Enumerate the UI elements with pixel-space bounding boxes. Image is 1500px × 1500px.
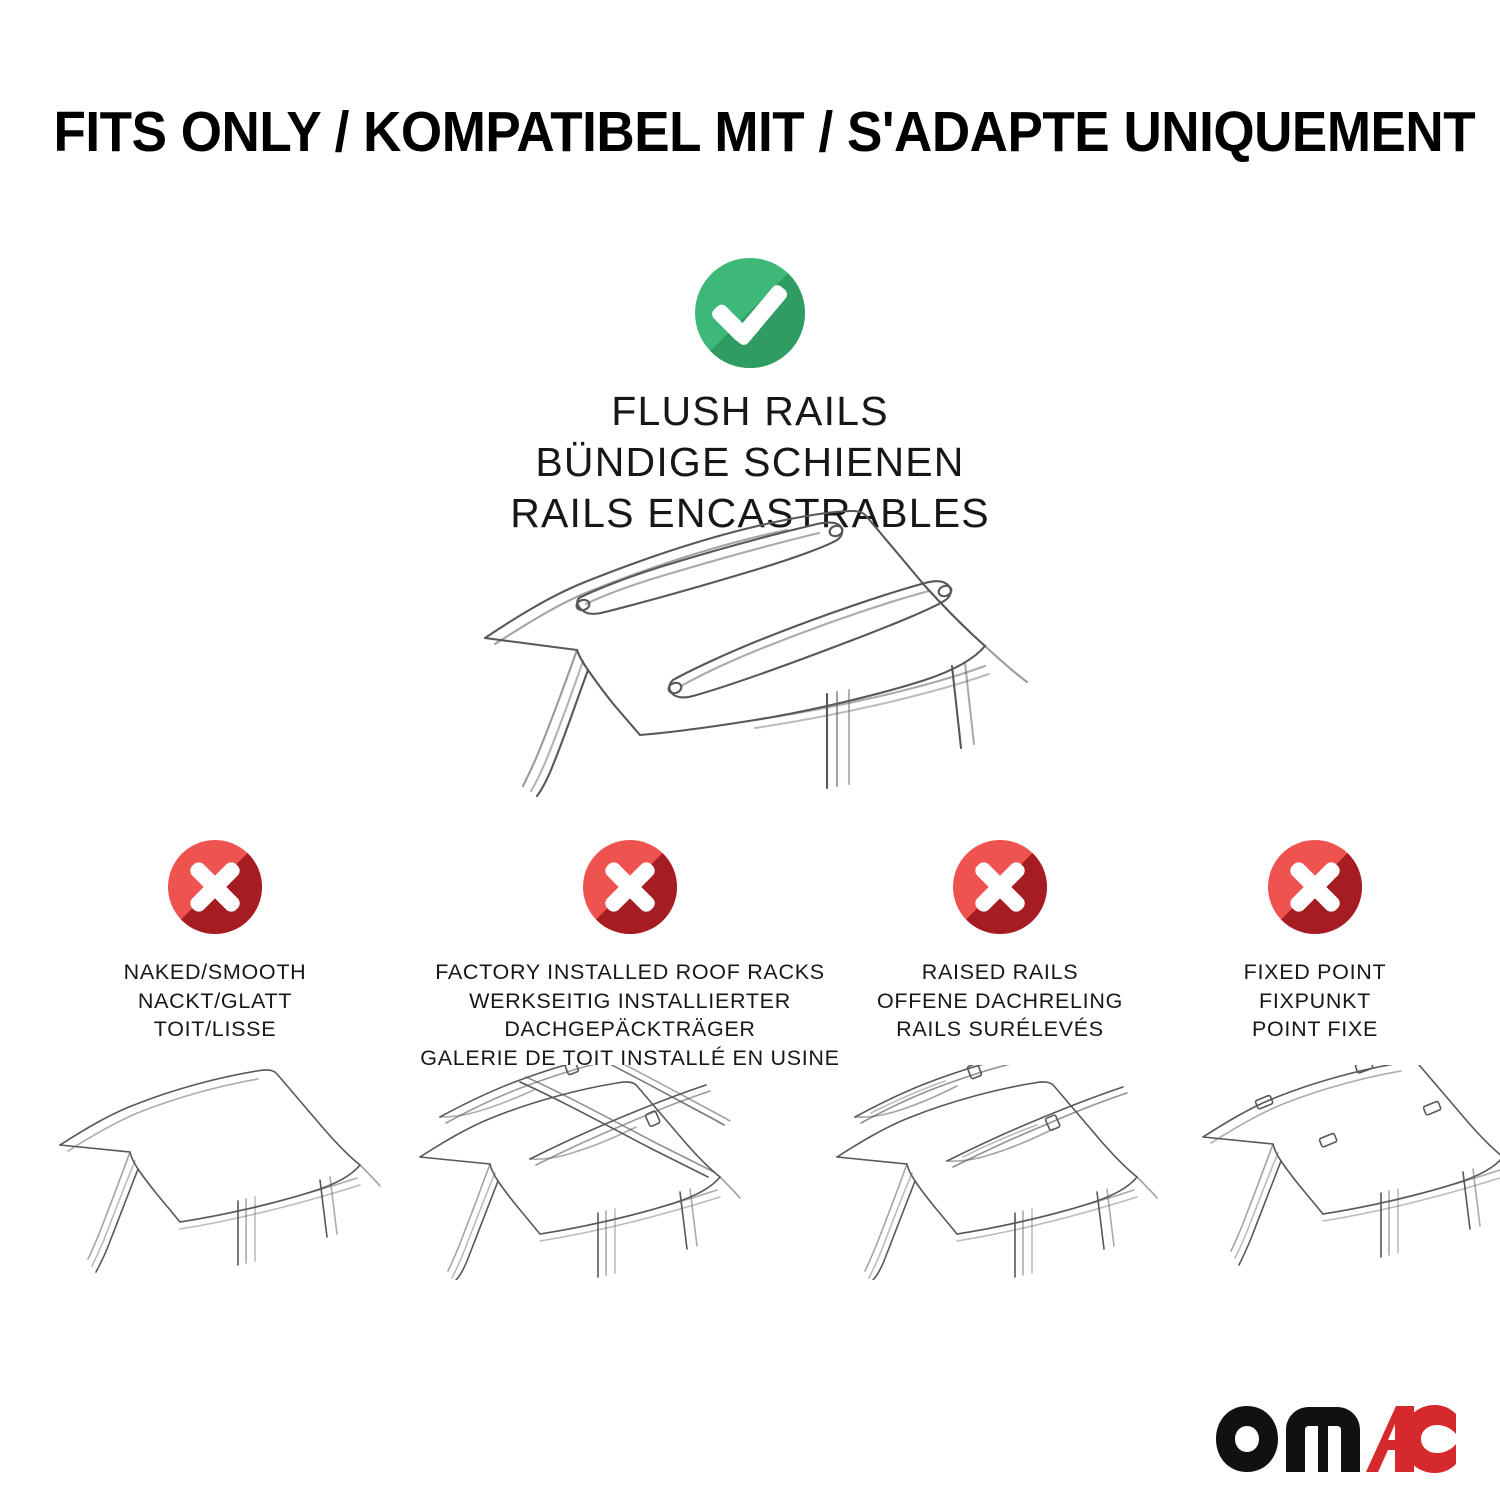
car-roof-raised-rails-illustration [825,1065,1170,1285]
caption-line-de1: WERKSEITIG INSTALLIERTER [390,987,870,1016]
incompatible-section: NAKED/SMOOTH NACKT/GLATT TOIT/LISSE [0,840,1500,1280]
caption-line-fr: POINT FIXE [1180,1015,1450,1044]
badge-wrap [60,840,370,958]
check-glyph [695,258,805,368]
compatible-label-en: FLUSH RAILS [0,386,1500,437]
car-roof-flush-rails-illustration [455,498,1055,798]
car-roof-factory-rack-illustration [410,1065,750,1285]
caption-line-de: OFFENE DACHRELING [835,987,1165,1016]
check-circle-icon [695,258,805,368]
x-circle-icon [953,840,1047,934]
badge-wrap [390,840,870,958]
x-circle-icon [583,840,677,934]
caption-line-fr: RAILS SURÉLEVÉS [835,1015,1165,1044]
caption-line-fr: TOIT/LISSE [60,1015,370,1044]
x-glyph [1268,840,1362,934]
caption: NAKED/SMOOTH NACKT/GLATT TOIT/LISSE [60,958,370,1044]
x-circle-icon [1268,840,1362,934]
caption: FIXED POINT FIXPUNKT POINT FIXE [1180,958,1450,1044]
page-title: FITS ONLY / KOMPATIBEL MIT / S'ADAPTE UN… [0,104,1500,161]
caption-line-de: NACKT/GLATT [60,987,370,1016]
incompatible-item-fixed-point: FIXED POINT FIXPUNKT POINT FIXE [1180,840,1450,1044]
incompatible-item-raised-rails: RAISED RAILS OFFENE DACHRELING RAILS SUR… [835,840,1165,1044]
x-glyph [953,840,1047,934]
caption-line-en: FIXED POINT [1180,958,1450,987]
caption-line-de: FIXPUNKT [1180,987,1450,1016]
badge-wrap [1180,840,1450,958]
compatible-label-de: BÜNDIGE SCHIENEN [0,437,1500,488]
caption-line-de2: DACHGEPÄCKTRÄGER [390,1015,870,1044]
incompatible-item-factory-installed-roof-racks: FACTORY INSTALLED ROOF RACKS WERKSEITIG … [390,840,870,1072]
caption-line-en: RAISED RAILS [835,958,1165,987]
x-glyph [583,840,677,934]
compatible-section: FLUSH RAILS BÜNDIGE SCHIENEN RAILS ENCAS… [0,258,1500,538]
caption: FACTORY INSTALLED ROOF RACKS WERKSEITIG … [390,958,870,1072]
omac-logo: OMAC [1214,1400,1458,1478]
badge-wrap [835,840,1165,958]
x-glyph [168,840,262,934]
incompatible-item-naked-smooth: NAKED/SMOOTH NACKT/GLATT TOIT/LISSE [60,840,370,1044]
caption-line-en: FACTORY INSTALLED ROOF RACKS [390,958,870,987]
caption-line-en: NAKED/SMOOTH [60,958,370,987]
caption: RAISED RAILS OFFENE DACHRELING RAILS SUR… [835,958,1165,1044]
page-title-text: FITS ONLY / KOMPATIBEL MIT / S'ADAPTE UN… [54,104,1476,161]
x-circle-icon [168,840,262,934]
car-roof-naked-illustration [52,1065,382,1280]
car-roof-fixed-point-illustration [1195,1065,1500,1282]
